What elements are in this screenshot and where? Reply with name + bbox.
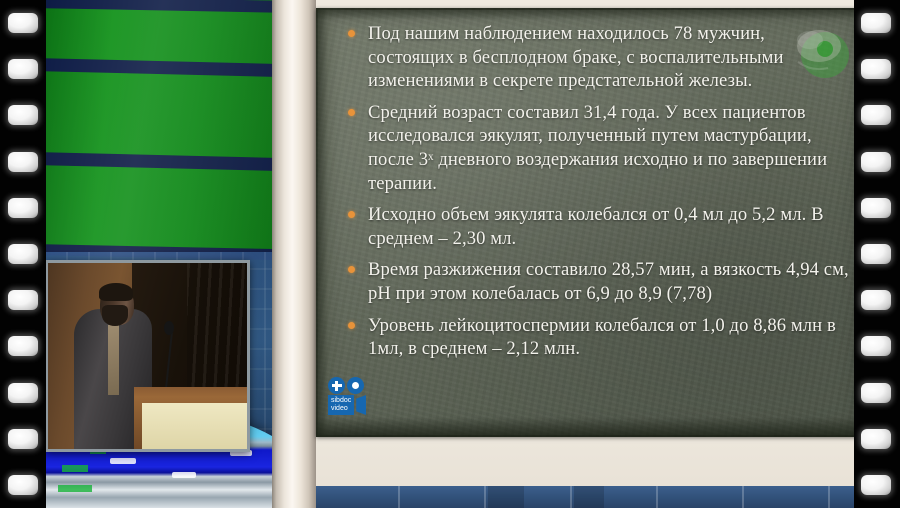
studio-pillar (272, 0, 316, 508)
speaker-video-inset[interactable] (45, 260, 250, 452)
desk-highlight (172, 472, 196, 478)
bullet-text: Время разжижения составило 28,57 мин, а … (368, 259, 849, 304)
film-sprocket-hole (861, 244, 891, 264)
bullet-text: Уровень лейкоцитоспермии колебался от 1,… (368, 315, 836, 360)
medical-plus-icon (328, 377, 345, 394)
list-item: Исходно объем эякулята колебался от 0,4 … (342, 203, 852, 250)
sibdoc-logo-marks (328, 377, 382, 394)
film-strip-right (854, 0, 900, 508)
film-sprocket-hole (8, 336, 38, 356)
list-item: Под нашим наблюдением находилось 78 мужч… (342, 22, 852, 93)
sibdoc-logo-wordmark: sibdoc video (328, 395, 382, 415)
bullet-dot-icon (348, 266, 355, 273)
speaker-beard (102, 305, 128, 326)
sibdoc-logo-line2: video (331, 405, 351, 413)
slide-top-shadow (316, 8, 866, 20)
film-sprocket-hole (8, 105, 38, 125)
sibdoc-logo-line1: sibdoc (331, 397, 351, 405)
film-sprocket-hole (861, 429, 891, 449)
film-sprocket-hole (861, 152, 891, 172)
film-sprocket-hole (861, 475, 891, 495)
film-sprocket-hole (8, 429, 38, 449)
film-sprocket-hole (861, 198, 891, 218)
desk-green-accent (58, 485, 92, 492)
presentation-slide[interactable]: Под нашим наблюдением находилось 78 мужч… (316, 8, 866, 437)
film-sprocket-hole (8, 59, 38, 79)
speaker-hair (99, 283, 133, 301)
bullet-dot-icon (348, 30, 355, 37)
list-item: Уровень лейкоцитоспермии колебался от 1,… (342, 314, 852, 361)
slide-bullet-list: Под нашим наблюдением находилось 78 мужч… (342, 22, 852, 369)
film-sprocket-hole (861, 290, 891, 310)
film-strip-left (0, 0, 46, 508)
bullet-text: Средний возраст составил 31,4 года. У вс… (368, 102, 827, 194)
tile-shade (574, 486, 604, 508)
sibdoc-video-logo: sibdoc video (328, 377, 382, 415)
slide-left-shadow (316, 8, 338, 437)
film-sprocket-hole (861, 13, 891, 33)
bullet-dot-icon (348, 109, 355, 116)
desk-highlight (110, 458, 136, 464)
film-sprocket-hole (861, 59, 891, 79)
film-sprocket-hole (8, 198, 38, 218)
film-sprocket-hole (8, 383, 38, 403)
film-sprocket-hole (8, 152, 38, 172)
film-sprocket-hole (861, 105, 891, 125)
speaker-tie (108, 325, 119, 395)
slide-bottom-shadow (316, 417, 866, 437)
desk-green-accent (62, 465, 88, 472)
film-sprocket-hole (8, 475, 38, 495)
film-sprocket-hole (8, 244, 38, 264)
bullet-text: Под нашим наблюдением находилось 78 мужч… (368, 23, 784, 91)
film-sprocket-hole (8, 13, 38, 33)
film-sprocket-hole (861, 383, 891, 403)
podium-front-panel (142, 403, 248, 449)
list-item: Средний возраст составил 31,4 года. У вс… (342, 101, 852, 195)
circle-dot-icon (347, 377, 364, 394)
screen-root: Под нашим наблюдением находилось 78 мужч… (0, 0, 900, 508)
film-sprocket-hole (8, 290, 38, 310)
bullet-dot-icon (348, 211, 355, 218)
bullet-text: Исходно объем эякулята колебался от 0,4 … (368, 204, 824, 249)
bullet-dot-icon (348, 322, 355, 329)
microphone-icon (164, 321, 174, 335)
list-item: Время разжижения составило 28,57 мин, а … (342, 258, 852, 305)
tile-shade (488, 486, 524, 508)
film-sprocket-hole (861, 336, 891, 356)
sibdoc-logo-textbox: sibdoc video (328, 395, 354, 415)
video-camera-icon (356, 395, 366, 415)
bottom-tile-strip (312, 486, 856, 508)
